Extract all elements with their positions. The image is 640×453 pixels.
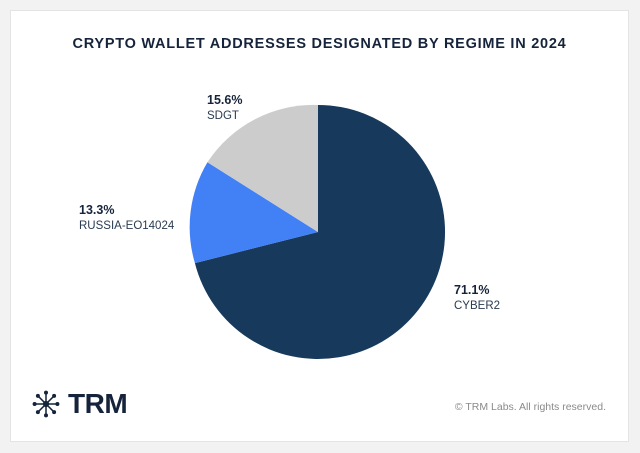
pie-label-sdgt-percent: 15.6% <box>207 93 242 109</box>
pie-label-russia-name: RUSSIA-EO14024 <box>79 219 174 233</box>
page-title: CRYPTO WALLET ADDRESSES DESIGNATED BY RE… <box>11 36 628 52</box>
node-network-icon <box>31 389 61 419</box>
chart-card: CRYPTO WALLET ADDRESSES DESIGNATED BY RE… <box>10 10 629 442</box>
pie-label-russia-eo14024: 13.3% RUSSIA-EO14024 <box>79 203 174 233</box>
copyright-text: © TRM Labs. All rights reserved. <box>455 401 606 413</box>
pie-chart-svg <box>11 11 630 443</box>
pie-slice-cyber2[interactable] <box>195 105 445 359</box>
trm-logo: TRM <box>31 389 127 419</box>
pie-slice-sdgt[interactable] <box>207 105 318 232</box>
pie-label-cyber2-name: CYBER2 <box>454 299 500 313</box>
trm-wordmark: TRM <box>68 390 127 418</box>
pie-label-sdgt: 15.6% SDGT <box>207 93 242 123</box>
pie-label-russia-percent: 13.3% <box>79 203 174 219</box>
pie-slice-russia-eo14024[interactable] <box>190 162 318 263</box>
pie-chart: 15.6% SDGT 13.3% RUSSIA-EO14024 71.1% CY… <box>11 11 630 443</box>
pie-label-cyber2: 71.1% CYBER2 <box>454 283 500 313</box>
pie-label-sdgt-name: SDGT <box>207 109 242 123</box>
pie-label-cyber2-percent: 71.1% <box>454 283 500 299</box>
